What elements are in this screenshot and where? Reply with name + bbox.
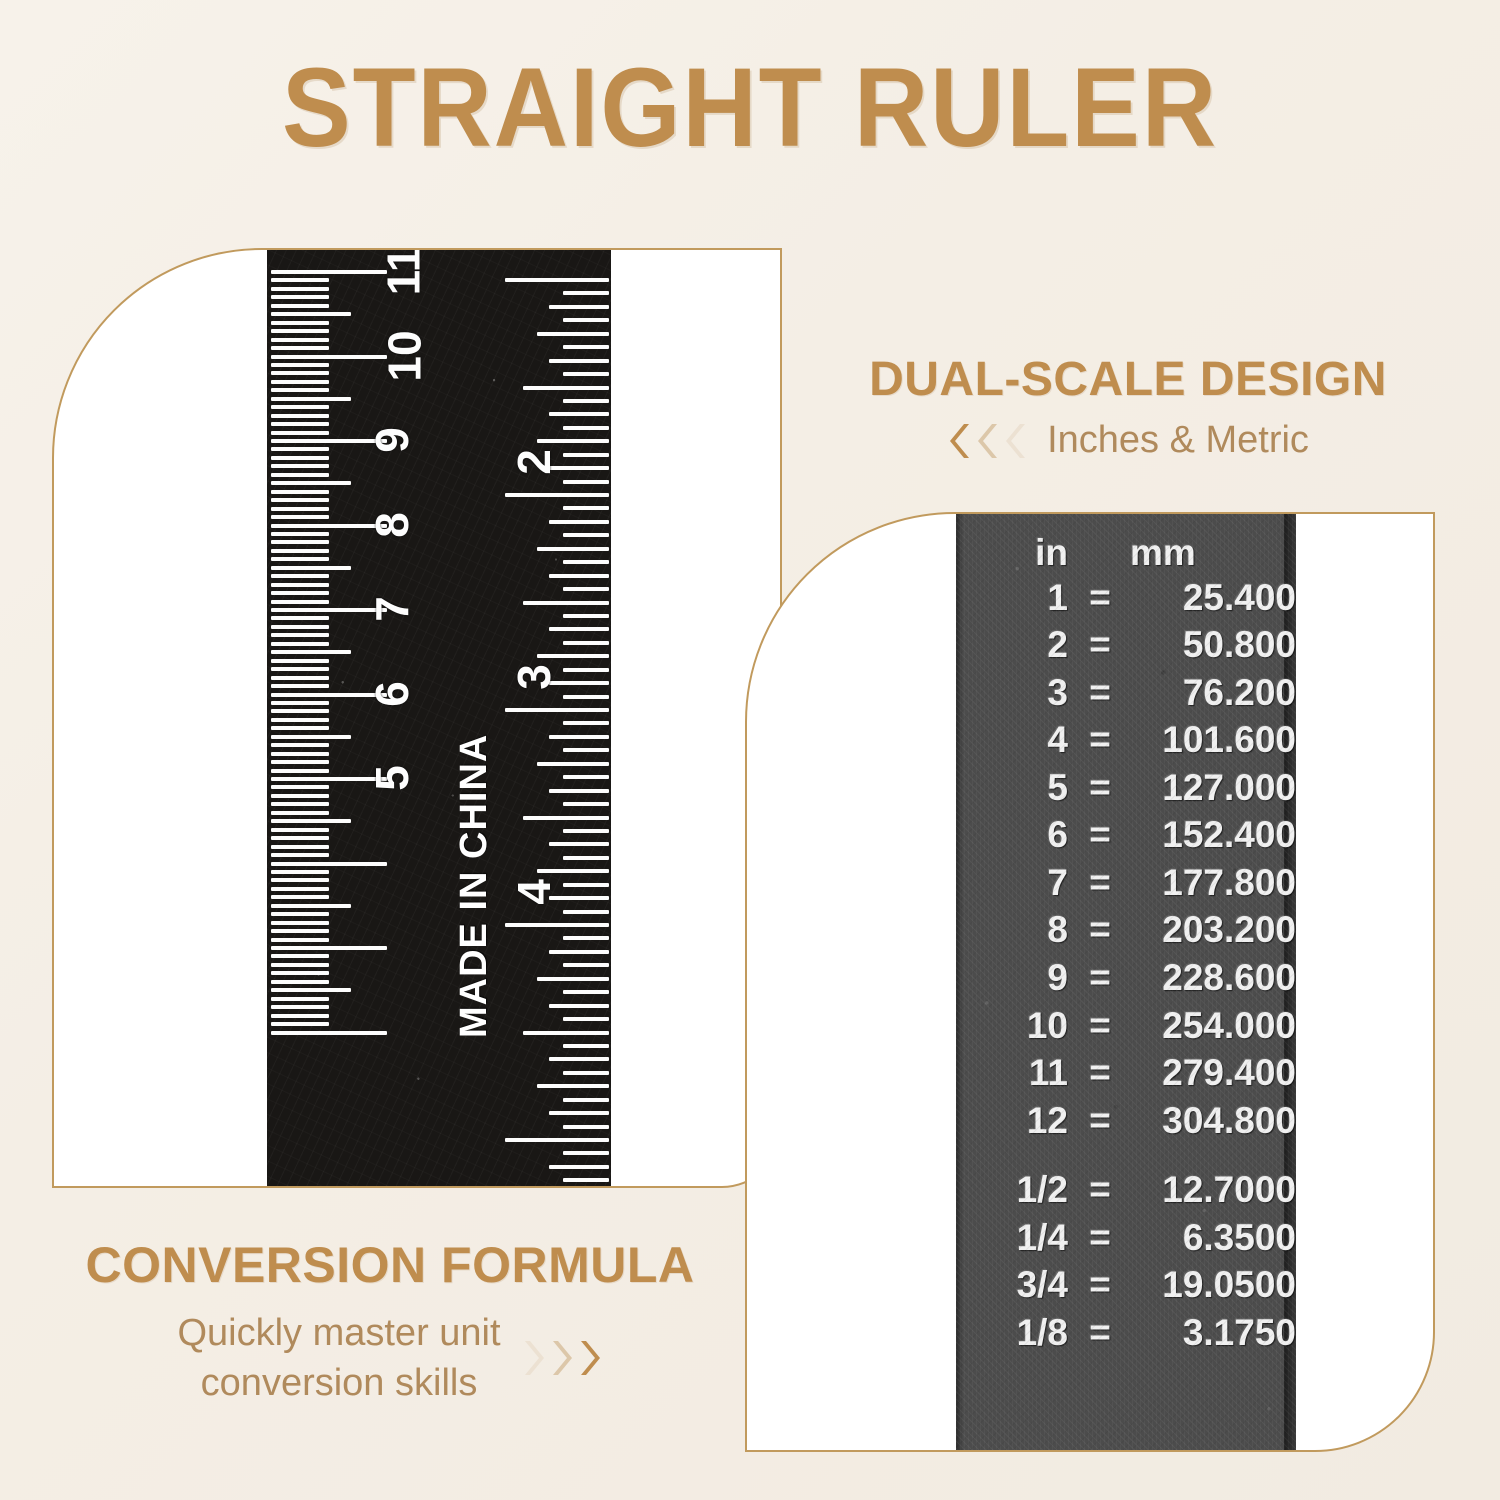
ruler-tick (563, 399, 609, 403)
ruler-tick (271, 633, 329, 637)
conversion-row-in: 7 (956, 859, 1074, 907)
ruler-tick (271, 963, 329, 967)
dual-scale-subtitle: Inches & Metric (1047, 419, 1309, 462)
ruler-tick (271, 616, 329, 620)
ruler-tick (271, 600, 329, 604)
ruler-tick (563, 748, 609, 752)
ruler-tick (271, 802, 329, 806)
ruler-tick (523, 601, 609, 605)
ruler-tick (271, 431, 329, 435)
conversion-row-in: 2 (956, 621, 1074, 669)
ruler-tick (271, 709, 329, 713)
ruler-tick (563, 506, 609, 510)
ruler-tick (563, 587, 609, 591)
ruler-tick (271, 878, 329, 882)
ruler-tick (563, 345, 609, 349)
ruler-tick (549, 842, 609, 846)
ruler-tick (549, 359, 609, 363)
conversion-row: 11=279.400 (956, 1049, 1296, 1097)
ruler-tick (271, 1005, 329, 1009)
ruler-tick (271, 591, 329, 595)
conversion-row-mm: 279.400 (1126, 1049, 1296, 1097)
conversion-row: 2=50.800 (956, 621, 1296, 669)
ruler-tick (271, 278, 329, 282)
conversion-row-mm: 304.800 (1126, 1097, 1296, 1145)
conversion-row-equals: = (1074, 621, 1126, 669)
conversion-row-mm: 12.7000 (1126, 1166, 1296, 1214)
imperial-tick-scale (491, 248, 611, 1188)
conversion-row: 7=177.800 (956, 859, 1296, 907)
conversion-row: 4=101.600 (956, 716, 1296, 764)
ruler-tick (537, 977, 609, 981)
ruler-tick (271, 295, 329, 299)
conversion-row: 1=25.400 (956, 574, 1296, 622)
conversion-row-mm: 50.800 (1126, 621, 1296, 669)
left-product-card: 111098765 234 MADE IN CHINA MQ-1015B (52, 248, 782, 1188)
black-ruler-body: 111098765 234 MADE IN CHINA MQ-1015B (267, 248, 611, 1188)
ruler-tick (563, 318, 609, 322)
conversion-row-mm: 76.200 (1126, 669, 1296, 717)
ruler-tick (271, 549, 329, 553)
dual-scale-heading: DUAL-SCALE DESIGN (828, 352, 1428, 407)
ruler-tick (271, 583, 329, 587)
ruler-tick (271, 642, 329, 646)
ruler-tick (563, 1017, 609, 1021)
ruler-tick (271, 371, 329, 375)
ruler-tick (271, 447, 329, 451)
ruler-tick (563, 480, 609, 484)
ruler-tick (271, 904, 351, 908)
column-header-mm: mm (1124, 534, 1294, 572)
conversion-row: 3/4=19.0500 (956, 1261, 1296, 1309)
ruler-tick (549, 305, 609, 309)
ruler-tick (549, 950, 609, 954)
ruler-tick (563, 695, 609, 699)
metric-scale-number: 7 (365, 596, 419, 622)
conversion-row: 6=152.400 (956, 811, 1296, 859)
conversion-row-mm: 101.600 (1126, 716, 1296, 764)
conversion-heading: CONVERSION FORMULA (40, 1236, 740, 1294)
ruler-tick (271, 540, 329, 544)
imperial-scale-number: 3 (507, 664, 561, 690)
conversion-row: 8=203.200 (956, 906, 1296, 954)
chevron-left-icon (947, 422, 973, 460)
ruler-tick (271, 405, 329, 409)
ruler-tick (271, 270, 387, 274)
ruler-tick (271, 422, 329, 426)
ruler-tick (549, 412, 609, 416)
dual-scale-feature-block: DUAL-SCALE DESIGN Inches & Metric (828, 352, 1428, 462)
ruler-tick (271, 1022, 329, 1026)
chevron-left-icon (1003, 422, 1029, 460)
conversion-row: 10=254.000 (956, 1002, 1296, 1050)
ruler-tick (271, 785, 329, 789)
conversion-row: 5=127.000 (956, 764, 1296, 812)
ruler-tick (505, 708, 609, 712)
conversion-row-mm: 203.200 (1126, 906, 1296, 954)
conversion-row-mm: 25.400 (1126, 574, 1296, 622)
ruler-tick (563, 1071, 609, 1075)
conversion-feature-block: CONVERSION FORMULA Quickly master unit c… (40, 1236, 740, 1408)
metric-scale-number: 9 (365, 427, 419, 453)
ruler-tick (563, 560, 609, 564)
ruler-tick (271, 1031, 387, 1035)
conversion-row: 12=304.800 (956, 1097, 1296, 1145)
conversion-row-mm: 177.800 (1126, 859, 1296, 907)
chevron-right-icon (577, 1339, 603, 1377)
ruler-tick (271, 625, 329, 629)
ruler-tick (271, 566, 351, 570)
conversion-subtitle-row: Quickly master unit conversion skills (40, 1308, 740, 1408)
conversion-row-in: 10 (956, 1002, 1074, 1050)
ruler-tick (563, 910, 609, 914)
conversion-row-in: 1/2 (956, 1166, 1074, 1214)
ruler-tick (271, 667, 329, 671)
ruler-tick (271, 481, 351, 485)
ruler-tick (563, 533, 609, 537)
ruler-tick (563, 829, 609, 833)
ruler-tick (537, 439, 609, 443)
conversion-row-equals: = (1074, 1049, 1126, 1097)
conversion-subtitle-line2: conversion skills (201, 1362, 478, 1404)
ruler-origin-text: MADE IN CHINA (453, 734, 496, 1038)
ruler-tick (271, 676, 329, 680)
conversion-row-in: 4 (956, 716, 1074, 764)
ruler-tick (271, 557, 329, 561)
ruler-tick (523, 386, 609, 390)
conversion-row-equals: = (1074, 1261, 1126, 1309)
ruler-tick (563, 426, 609, 430)
ruler-tick (271, 355, 387, 359)
metric-scale-number: 8 (365, 512, 419, 538)
ruler-tick (549, 1057, 609, 1061)
ruler-tick (271, 853, 329, 857)
ruler-tick (549, 1165, 609, 1169)
ruler-tick (549, 1004, 609, 1008)
ruler-tick (537, 332, 609, 336)
ruler-tick (523, 816, 609, 820)
chevron-right-icon (521, 1339, 547, 1377)
ruler-tick (271, 769, 329, 773)
ruler-tick (271, 726, 329, 730)
ruler-tick (271, 870, 329, 874)
conversion-row: 1/8=3.1750 (956, 1309, 1296, 1357)
ruler-tick (271, 752, 329, 756)
ruler-tick (523, 1031, 609, 1035)
ruler-tick (271, 836, 329, 840)
column-header-in: in (956, 534, 1072, 572)
ruler-tick (537, 547, 609, 551)
ruler-tick (271, 388, 329, 392)
ruler-tick (271, 363, 329, 367)
ruler-tick (271, 397, 351, 401)
ruler-tick (563, 668, 609, 672)
ruler-tick (549, 574, 609, 578)
ruler-tick (563, 990, 609, 994)
conversion-row-in: 3 (956, 669, 1074, 717)
ruler-tick (549, 1111, 609, 1115)
ruler-tick (271, 498, 329, 502)
ruler-tick (563, 802, 609, 806)
conversion-row-equals: = (1074, 669, 1126, 717)
chevron-left-group (947, 422, 1029, 460)
ruler-tick (563, 1044, 609, 1048)
ruler-tick (563, 453, 609, 457)
imperial-scale-number: 2 (507, 449, 561, 475)
ruler-tick (271, 760, 329, 764)
conversion-row-in: 9 (956, 954, 1074, 1002)
ruler-tick (271, 887, 329, 891)
conversion-table-body: 1=25.4002=50.8003=76.2004=101.6005=127.0… (956, 574, 1296, 1144)
ruler-tick (271, 650, 351, 654)
conversion-row-equals: = (1074, 1309, 1126, 1357)
conversion-row-mm: 3.1750 (1126, 1309, 1296, 1357)
ruler-tick (271, 988, 351, 992)
conversion-table: in mm 1=25.4002=50.8003=76.2004=101.6005… (956, 534, 1296, 1356)
ruler-tick (271, 312, 351, 316)
metric-tick-scale (267, 248, 417, 1188)
ruler-tick (271, 321, 329, 325)
conversion-row: 1/4=6.3500 (956, 1214, 1296, 1262)
ruler-tick (505, 278, 609, 282)
conversion-row: 3=76.200 (956, 669, 1296, 717)
ruler-tick (549, 735, 609, 739)
grey-ruler-body: in mm 1=25.4002=50.8003=76.2004=101.6005… (956, 512, 1296, 1452)
conversion-row-in: 3/4 (956, 1261, 1074, 1309)
table-divider (956, 1144, 1296, 1166)
ruler-tick (271, 845, 329, 849)
conversion-row-mm: 19.0500 (1126, 1261, 1296, 1309)
metric-scale-number: 11 (376, 248, 430, 295)
ruler-tick (563, 291, 609, 295)
conversion-row-equals: = (1074, 859, 1126, 907)
ruler-tick (537, 869, 609, 873)
dual-scale-subtitle-row: Inches & Metric (828, 419, 1428, 462)
ruler-tick (271, 329, 329, 333)
ruler-tick (271, 532, 329, 536)
ruler-tick (271, 304, 329, 308)
ruler-tick (563, 641, 609, 645)
ruler-tick (505, 923, 609, 927)
conversion-row-equals: = (1074, 811, 1126, 859)
ruler-tick (549, 627, 609, 631)
conversion-row-in: 11 (956, 1049, 1074, 1097)
ruler-tick (271, 921, 329, 925)
conversion-row-equals: = (1074, 574, 1126, 622)
ruler-tick (271, 794, 329, 798)
column-header-spacer (1072, 534, 1124, 572)
ruler-tick (563, 1125, 609, 1129)
ruler-tick (271, 701, 329, 705)
ruler-tick (563, 1098, 609, 1102)
conversion-row-in: 8 (956, 906, 1074, 954)
ruler-tick (563, 963, 609, 967)
imperial-scale-number: 4 (507, 879, 561, 905)
ruler-tick (271, 735, 351, 739)
conversion-row-equals: = (1074, 954, 1126, 1002)
ruler-tick (271, 929, 329, 933)
ruler-tick (537, 762, 609, 766)
ruler-tick (271, 490, 329, 494)
ruler-tick (549, 520, 609, 524)
ruler-tick (537, 1084, 609, 1088)
metric-scale-number: 6 (365, 681, 419, 707)
ruler-tick (271, 338, 329, 342)
conversion-row-in: 1/8 (956, 1309, 1074, 1357)
ruler-tick (271, 980, 329, 984)
ruler-tick (549, 789, 609, 793)
ruler-tick (505, 493, 609, 497)
ruler-tick (271, 912, 329, 916)
ruler-tick (271, 684, 329, 688)
ruler-tick (271, 464, 329, 468)
ruler-tick (271, 574, 329, 578)
ruler-tick (563, 372, 609, 376)
ruler-tick (271, 515, 329, 519)
conversion-row-equals: = (1074, 906, 1126, 954)
ruler-tick (271, 938, 329, 942)
conversion-row-equals: = (1074, 1166, 1126, 1214)
ruler-tick (271, 811, 329, 815)
ruler-tick (271, 997, 329, 1001)
conversion-row-in: 6 (956, 811, 1074, 859)
conversion-row-equals: = (1074, 716, 1126, 764)
conversion-row-mm: 254.000 (1126, 1002, 1296, 1050)
conversion-table-fractions: 1/2=12.70001/4=6.35003/4=19.05001/8=3.17… (956, 1166, 1296, 1356)
conversion-row-equals: = (1074, 764, 1126, 812)
ruler-tick (271, 954, 329, 958)
ruler-tick (563, 883, 609, 887)
conversion-row-in: 12 (956, 1097, 1074, 1145)
ruler-tick (271, 743, 329, 747)
ruler-tick (271, 414, 329, 418)
ruler-tick (271, 718, 329, 722)
ruler-tick (271, 346, 329, 350)
ruler-tick (563, 1178, 609, 1182)
ruler-tick (563, 614, 609, 618)
conversion-subtitle-line1: Quickly master unit (177, 1312, 500, 1354)
ruler-tick (271, 380, 329, 384)
chevron-right-group (521, 1339, 603, 1377)
ruler-tick (563, 721, 609, 725)
ruler-tick (563, 775, 609, 779)
ruler-tick (271, 659, 329, 663)
conversion-row: 9=228.600 (956, 954, 1296, 1002)
ruler-tick (271, 946, 387, 950)
ruler-tick (271, 507, 329, 511)
conversion-row-mm: 127.000 (1126, 764, 1296, 812)
conversion-table-header: in mm (956, 534, 1296, 574)
conversion-row-equals: = (1074, 1214, 1126, 1262)
ruler-tick (563, 1151, 609, 1155)
conversion-row-mm: 6.3500 (1126, 1214, 1296, 1262)
page-title: STRAIGHT RULER (60, 52, 1440, 164)
metric-scale-number: 10 (378, 330, 432, 381)
conversion-row-in: 5 (956, 764, 1074, 812)
chevron-right-icon (549, 1339, 575, 1377)
ruler-tick (271, 819, 351, 823)
conversion-row-in: 1 (956, 574, 1074, 622)
ruler-tick (271, 456, 329, 460)
ruler-tick (505, 1138, 609, 1142)
conversion-subtitle: Quickly master unit conversion skills (177, 1308, 500, 1408)
conversion-row-mm: 152.400 (1126, 811, 1296, 859)
conversion-row-equals: = (1074, 1097, 1126, 1145)
ruler-tick (271, 971, 329, 975)
conversion-row: 1/2=12.7000 (956, 1166, 1296, 1214)
conversion-row-mm: 228.600 (1126, 954, 1296, 1002)
ruler-tick (271, 1014, 329, 1018)
ruler-tick (271, 828, 329, 832)
ruler-tick (271, 895, 329, 899)
ruler-tick (563, 856, 609, 860)
chevron-left-icon (975, 422, 1001, 460)
ruler-tick (271, 862, 387, 866)
metric-scale-number: 5 (365, 765, 419, 791)
right-product-card: in mm 1=25.4002=50.8003=76.2004=101.6005… (745, 512, 1435, 1452)
ruler-tick (563, 936, 609, 940)
ruler-tick (271, 473, 329, 477)
conversion-row-equals: = (1074, 1002, 1126, 1050)
ruler-tick (537, 654, 609, 658)
ruler-tick (271, 287, 329, 291)
conversion-row-in: 1/4 (956, 1214, 1074, 1262)
